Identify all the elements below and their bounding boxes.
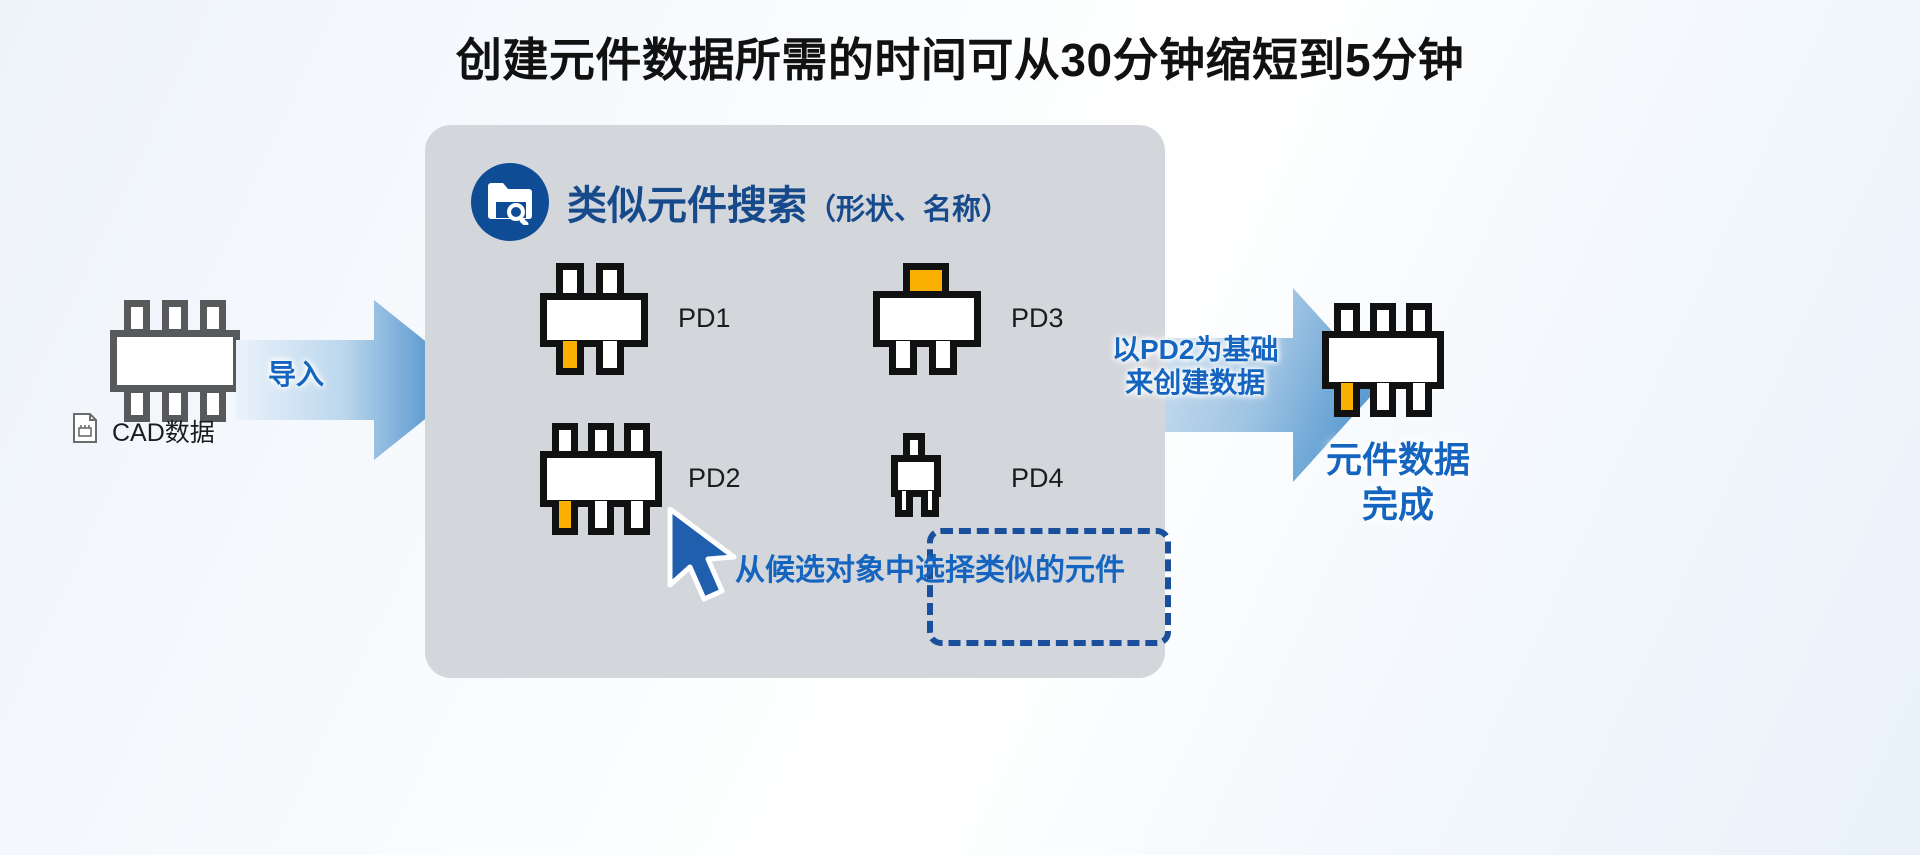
page-title: 创建元件数据所需的时间可从30分钟缩短到5分钟 — [0, 24, 1920, 90]
selection-note: 从候选对象中选择类似的元件 — [735, 545, 1125, 589]
candidate-pd1[interactable]: PD1 — [540, 263, 731, 373]
panel-title: 类似元件搜索（形状、名称） — [567, 173, 1010, 231]
candidate-label: PD3 — [1011, 303, 1064, 334]
result-label: 元件数据 完成 — [1288, 437, 1508, 527]
output-arrow-line1: 以PD2为基础 — [1112, 333, 1278, 366]
similar-part-search-panel: 类似元件搜索（形状、名称） PD1 PD3 — [425, 125, 1165, 678]
output-arrow-line2: 来创建数据 — [1112, 366, 1278, 399]
cad-data-label: CAD数据 — [112, 413, 215, 449]
cad-file-icon — [72, 412, 98, 449]
candidate-label: PD2 — [688, 463, 741, 494]
import-arrow-label: 导入 — [268, 358, 324, 391]
candidate-label: PD1 — [678, 303, 731, 334]
candidate-pd4[interactable]: PD4 — [873, 433, 1064, 523]
panel-header: 类似元件搜索（形状、名称） — [471, 163, 1010, 241]
cad-data-row: CAD数据 — [72, 412, 215, 449]
candidate-pd3[interactable]: PD3 — [873, 263, 1064, 373]
output-arrow-label: 以PD2为基础 来创建数据 — [1112, 333, 1278, 399]
result-component-symbol — [1322, 303, 1452, 418]
folder-search-icon — [471, 163, 549, 241]
result-line2: 完成 — [1288, 482, 1508, 527]
result-line1: 元件数据 — [1288, 437, 1508, 482]
panel-title-paren: （形状、名称） — [807, 194, 1010, 226]
panel-title-main: 类似元件搜索 — [567, 184, 807, 228]
candidate-label: PD4 — [1011, 463, 1064, 494]
diagram-canvas: 创建元件数据所需的时间可从30分钟缩短到5分钟 CAD数据 — [0, 0, 1920, 855]
